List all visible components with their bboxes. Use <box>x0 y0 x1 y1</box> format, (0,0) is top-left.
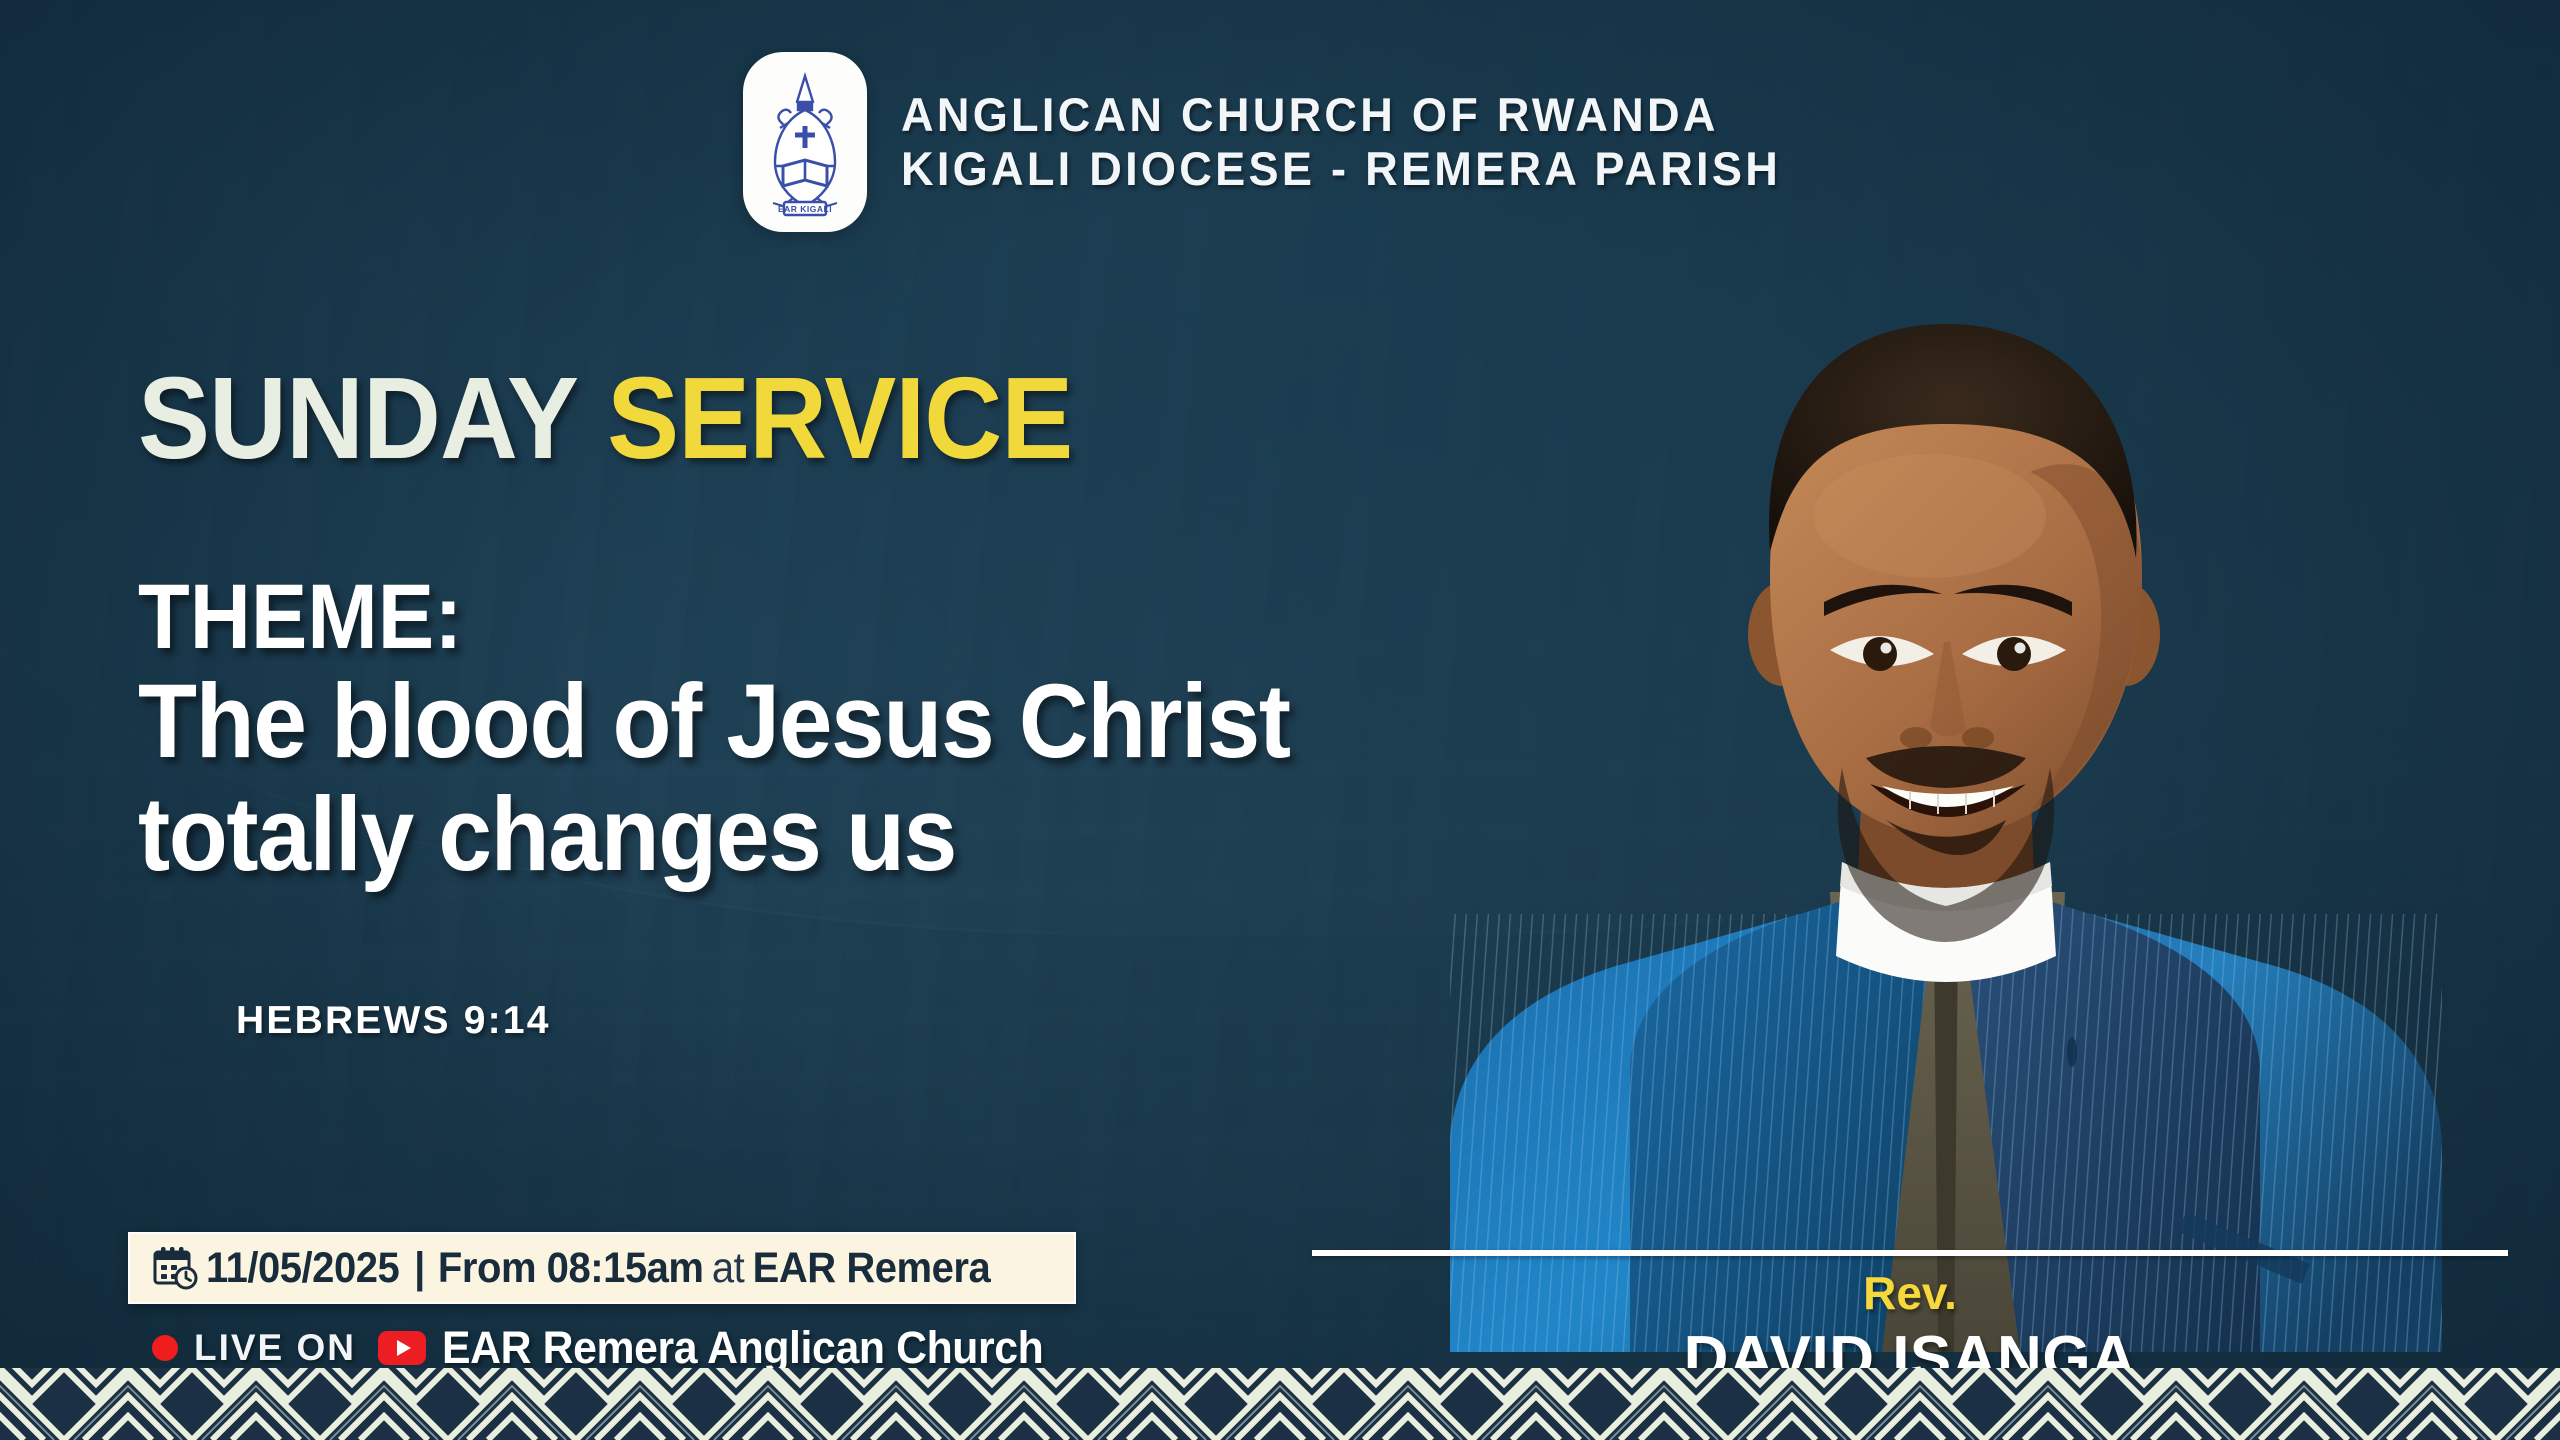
imigongo-pattern-svg <box>0 1368 2560 1440</box>
poster-main-content: SUNDAY SERVICE THEME: The blood of Jesus… <box>138 360 1458 1043</box>
live-dot-icon <box>152 1335 178 1361</box>
sunday-service-poster: EAR KIGALI ANGLICAN CHURCH OF RWANDA KIG… <box>0 0 2560 1440</box>
event-separator: | <box>414 1244 425 1293</box>
header-line-1: ANGLICAN CHURCH OF RWANDA <box>901 88 1781 142</box>
youtube-channel-name[interactable]: EAR Remera Anglican Church <box>442 1322 1043 1374</box>
anglican-crest-icon: EAR KIGALI <box>753 66 857 218</box>
youtube-icon[interactable] <box>378 1331 426 1365</box>
header-line-2: KIGALI DIOCESE - REMERA PARISH <box>901 142 1781 196</box>
event-date: 11/05/2025 <box>206 1244 399 1293</box>
live-on-label: LIVE ON <box>194 1327 356 1369</box>
event-details-text: 11/05/2025 | From 08:15am at EAR Remera <box>206 1244 990 1293</box>
theme-label: THEME: <box>138 568 1352 666</box>
speaker-title: Rev. <box>1312 1268 2508 1319</box>
church-logo-badge: EAR KIGALI <box>743 52 867 232</box>
scripture-reference: HEBREWS 9:14 <box>236 999 1458 1043</box>
event-venue: EAR Remera <box>753 1244 991 1293</box>
event-details-bar: 11/05/2025 | From 08:15am at EAR Remera <box>128 1232 1076 1304</box>
theme-line-2: totally changes us <box>138 779 1352 891</box>
event-at-word: at <box>712 1244 744 1293</box>
page-title: SUNDAY SERVICE <box>138 360 1366 476</box>
live-stream-row[interactable]: LIVE ON EAR Remera Anglican Church <box>152 1322 1075 1374</box>
title-word-service: SERVICE <box>607 353 1072 483</box>
poster-header: EAR KIGALI ANGLICAN CHURCH OF RWANDA KIG… <box>0 52 2560 232</box>
theme-block: THEME: The blood of Jesus Christ totally… <box>138 568 1352 891</box>
speaker-portrait-photo <box>1330 172 2560 1352</box>
crest-banner-text: EAR KIGALI <box>778 204 832 214</box>
speaker-divider-rule <box>1312 1250 2508 1256</box>
imigongo-pattern-border <box>0 1368 2560 1440</box>
header-text-block: ANGLICAN CHURCH OF RWANDA KIGALI DIOCESE… <box>901 88 1818 195</box>
title-word-sunday: SUNDAY <box>138 353 578 483</box>
event-time: From 08:15am <box>438 1244 704 1293</box>
theme-line-1: The blood of Jesus Christ <box>138 666 1352 778</box>
calendar-clock-icon <box>152 1245 198 1291</box>
